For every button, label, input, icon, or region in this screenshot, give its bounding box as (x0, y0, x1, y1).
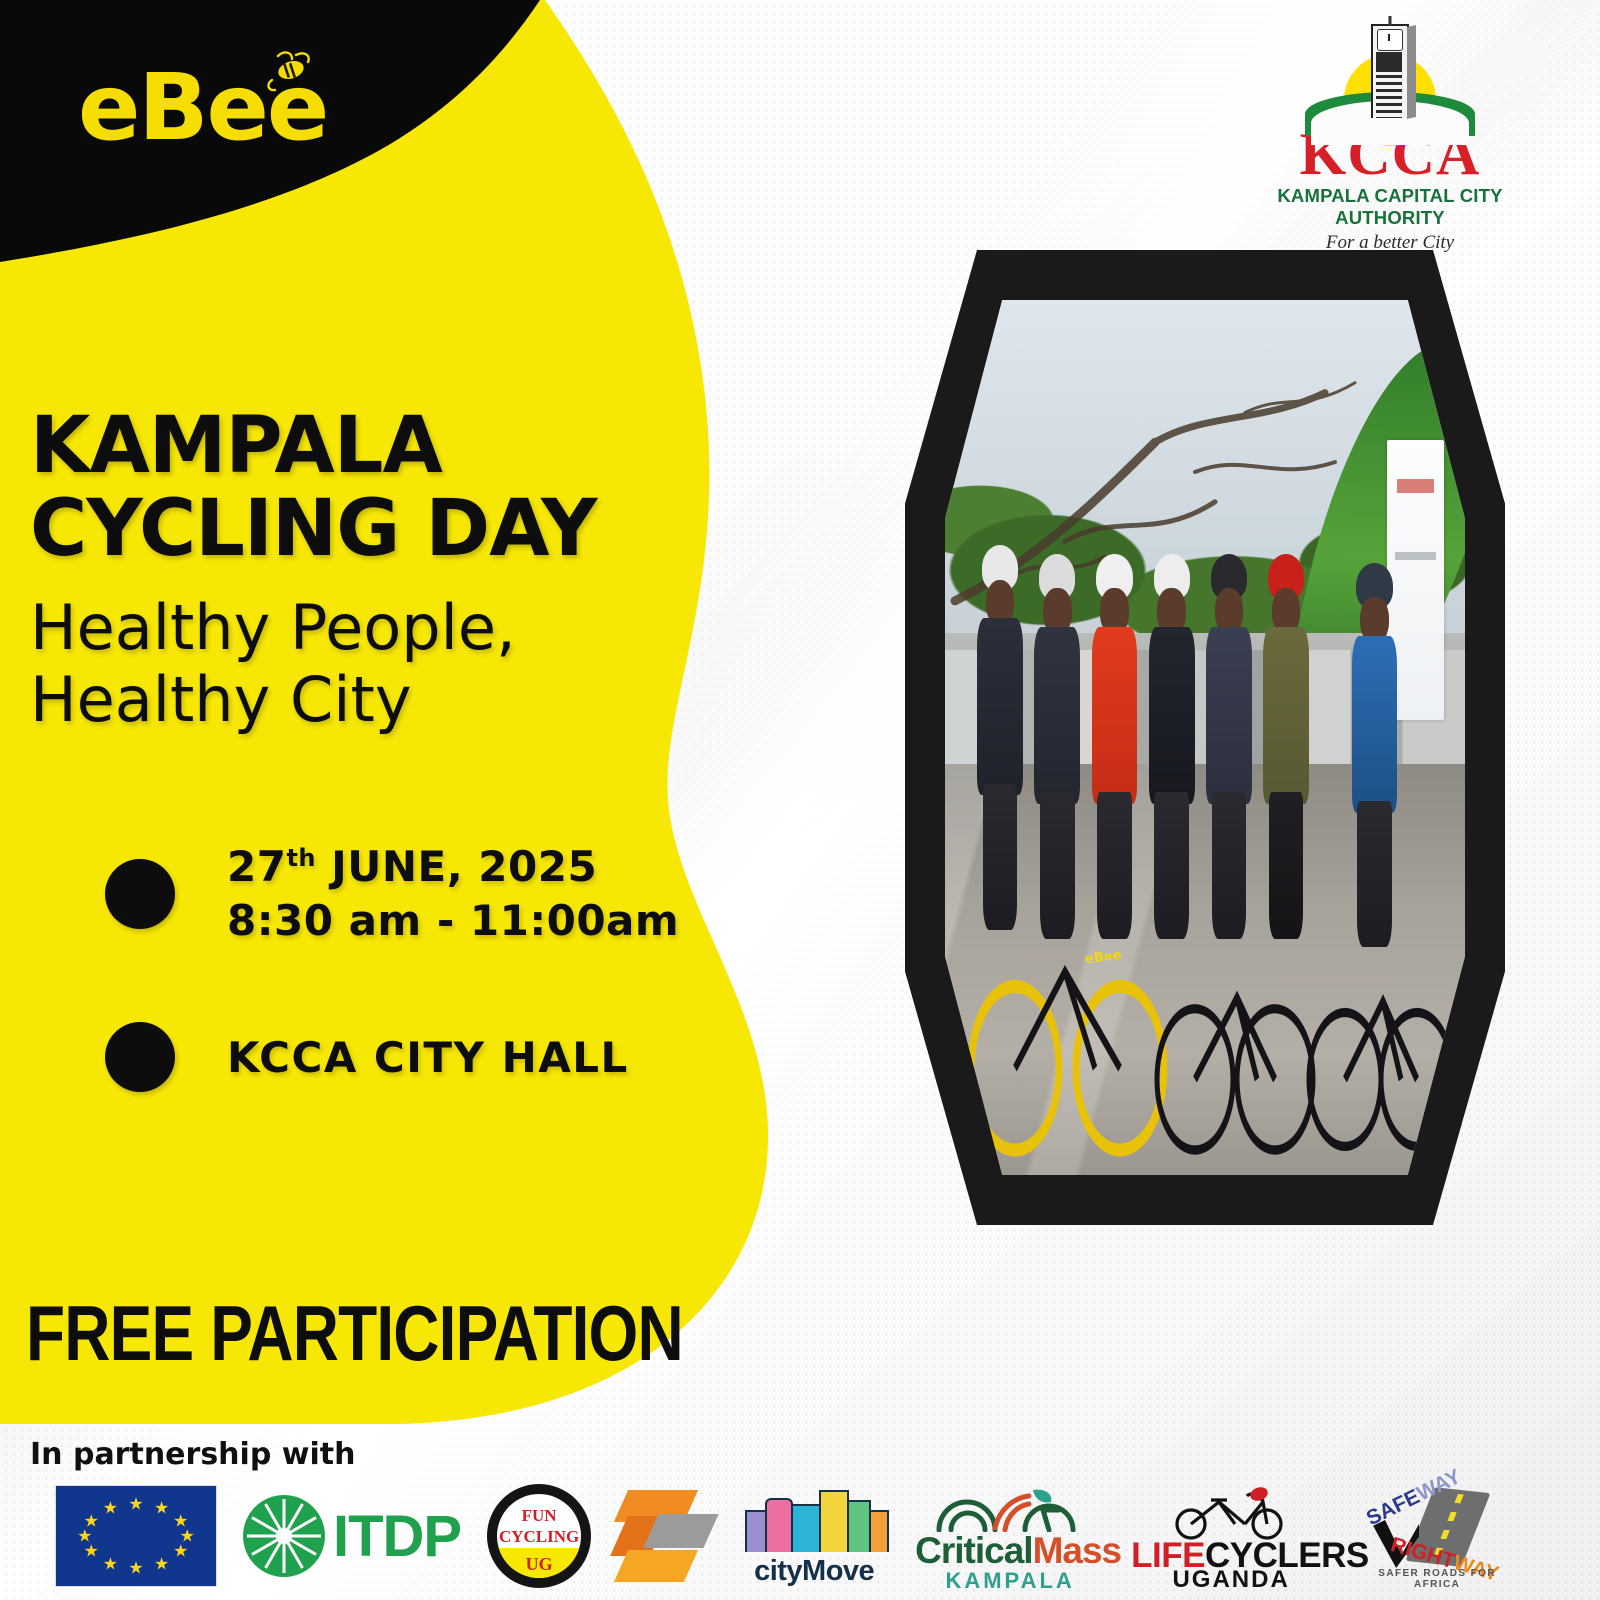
headline-block: KAMPALA CYCLING DAY Healthy People, Heal… (30, 405, 730, 736)
partner-logo-european-union: ★ ★ ★ ★ ★ ★ ★ ★ ★ ★ ★ ★ (55, 1484, 217, 1588)
photo-hexagon-image: eBee (945, 300, 1465, 1175)
poster-root: eBee KCCA KAMPALA CAPITAL C (0, 0, 1600, 1600)
kcca-logo: KCCA KAMPALA CAPITAL CITY AUTHORITY For … (1255, 22, 1525, 202)
event-time: 8:30 am - 11:00am (227, 894, 679, 948)
partner-logos-row: ★ ★ ★ ★ ★ ★ ★ ★ ★ ★ ★ ★ (55, 1482, 1575, 1590)
bicycles (945, 860, 1465, 1158)
event-date: 27th JUNE, 2025 (227, 840, 679, 894)
partner-logo-critical-mass-kampala: CriticalMass KAMPALA (915, 1484, 1105, 1588)
funcycling-line-1: FUN (497, 1507, 581, 1524)
itdp-wordmark: ITDP (333, 1503, 461, 1570)
eu-flag-icon: ★ ★ ★ ★ ★ ★ ★ ★ ★ ★ ★ ★ (55, 1485, 217, 1587)
bicycle-icon (1167, 1484, 1295, 1540)
partners-label: In partnership with (30, 1437, 355, 1472)
bullet-dot-icon (105, 859, 175, 929)
critical-mass-wordmark: CriticalMass (915, 1530, 1105, 1572)
subtitle-line-1: Healthy People, (30, 592, 730, 664)
partner-logo-s-logo (617, 1484, 713, 1588)
headline-line-2: CYCLING DAY (30, 488, 730, 571)
kcca-full-name: KAMPALA CAPITAL CITY AUTHORITY (1255, 185, 1525, 229)
subtitle-line-2: Healthy City (30, 664, 730, 736)
bullet-dot-icon (105, 1022, 175, 1092)
lifecyclers-country: UGANDA (1131, 1566, 1331, 1594)
funcycling-line-2: CYCLING (497, 1528, 581, 1545)
free-participation-callout: FREE PARTICIPATION (26, 1288, 683, 1379)
partner-logo-itdp: ITDP (243, 1484, 461, 1588)
lifecyclers-logo: LIFECYCLERS UGANDA (1131, 1484, 1331, 1588)
partner-logo-lifecyclers-uganda: LIFECYCLERS UGANDA (1131, 1484, 1331, 1588)
citymove-wordmark: cityMove (739, 1555, 889, 1588)
critical-mass-logo: CriticalMass KAMPALA (915, 1484, 1105, 1588)
safeway-logo: SAFEWAY RIGHTWAY SAFER ROADS FOR AFRICA (1357, 1484, 1517, 1588)
ebee-logo: eBee (78, 52, 338, 172)
headline-line-1: KAMPALA (30, 405, 730, 488)
clock-tower-icon (1371, 24, 1409, 118)
detail-row-datetime: 27th JUNE, 2025 8:30 am - 11:00am (105, 840, 679, 948)
funcycling-line-3: UG (497, 1555, 581, 1573)
critical-mass-location: KAMPALA (915, 1568, 1105, 1594)
cyclist-arcs-icon (933, 1488, 1085, 1532)
partner-logo-citymove: cityMove (739, 1484, 889, 1588)
partner-logo-fun-cycling-ug: FUN CYCLING UG (487, 1484, 591, 1588)
s-shape-icon (617, 1484, 713, 1588)
partner-logo-safeway-rightway: SAFEWAY RIGHTWAY SAFER ROADS FOR AFRICA (1357, 1484, 1517, 1588)
citymove-logo: cityMove (739, 1484, 889, 1588)
kcca-emblem-icon (1255, 22, 1525, 126)
detail-row-venue: KCCA CITY HALL (105, 1022, 629, 1092)
itdp-wheel-icon (243, 1495, 325, 1577)
safeway-tagline: SAFER ROADS FOR AFRICA (1357, 1568, 1517, 1590)
bee-icon (258, 50, 316, 96)
event-venue: KCCA CITY HALL (227, 1033, 629, 1082)
fun-cycling-gear-icon: FUN CYCLING UG (487, 1484, 591, 1588)
cyclists-photo: eBee (945, 300, 1465, 1175)
